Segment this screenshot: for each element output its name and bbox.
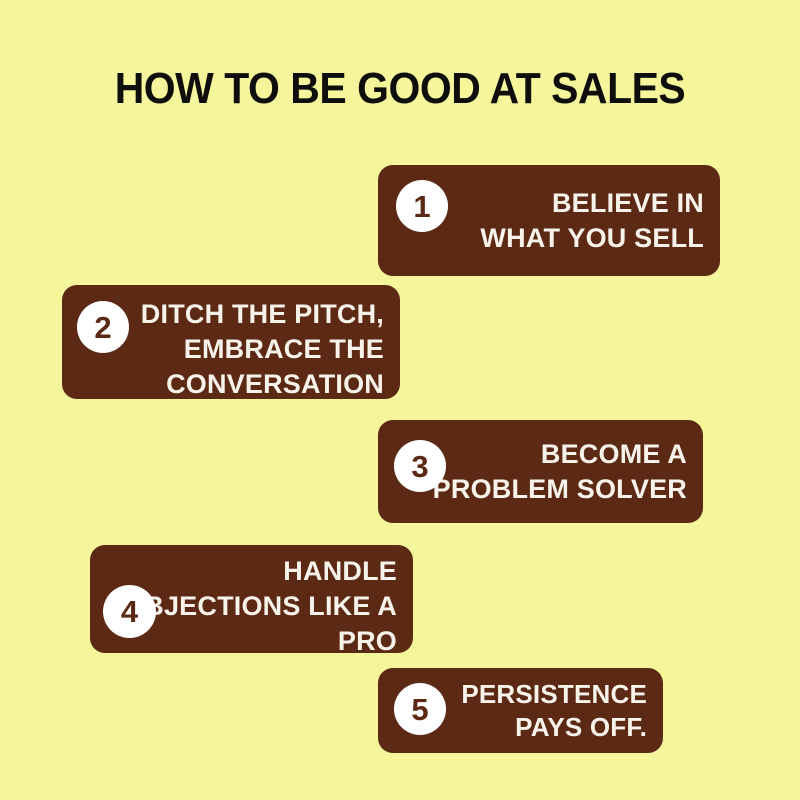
- step-card-1[interactable]: 1 BELIEVE IN WHAT YOU SELL: [378, 165, 720, 276]
- step-card-3[interactable]: 3 BECOME A PROBLEM SOLVER: [378, 420, 703, 523]
- step-label-4: HANDLE OBJECTIONS LIKE A PRO: [117, 554, 397, 659]
- infographic-canvas: HOW TO BE GOOD AT SALES 1 BELIEVE IN WHA…: [0, 0, 800, 800]
- step-number-badge-3: 3: [394, 440, 446, 492]
- page-title: HOW TO BE GOOD AT SALES: [28, 63, 772, 115]
- step-number-badge-5: 5: [394, 683, 446, 735]
- step-label-5: PERSISTENCE PAYS OFF.: [442, 678, 647, 744]
- step-number-badge-2: 2: [77, 301, 129, 353]
- step-label-2: DITCH THE PITCH, EMBRACE THE CONVERSATIO…: [128, 297, 384, 402]
- step-card-4[interactable]: 4 HANDLE OBJECTIONS LIKE A PRO: [90, 545, 413, 653]
- step-card-2[interactable]: 2 DITCH THE PITCH, EMBRACE THE CONVERSAT…: [62, 285, 400, 399]
- step-number-badge-4: 4: [103, 585, 156, 638]
- step-number-badge-1: 1: [396, 180, 448, 232]
- step-label-3: BECOME A PROBLEM SOLVER: [411, 437, 687, 507]
- step-label-1: BELIEVE IN WHAT YOU SELL: [444, 186, 704, 256]
- step-card-5[interactable]: 5 PERSISTENCE PAYS OFF.: [378, 668, 663, 753]
